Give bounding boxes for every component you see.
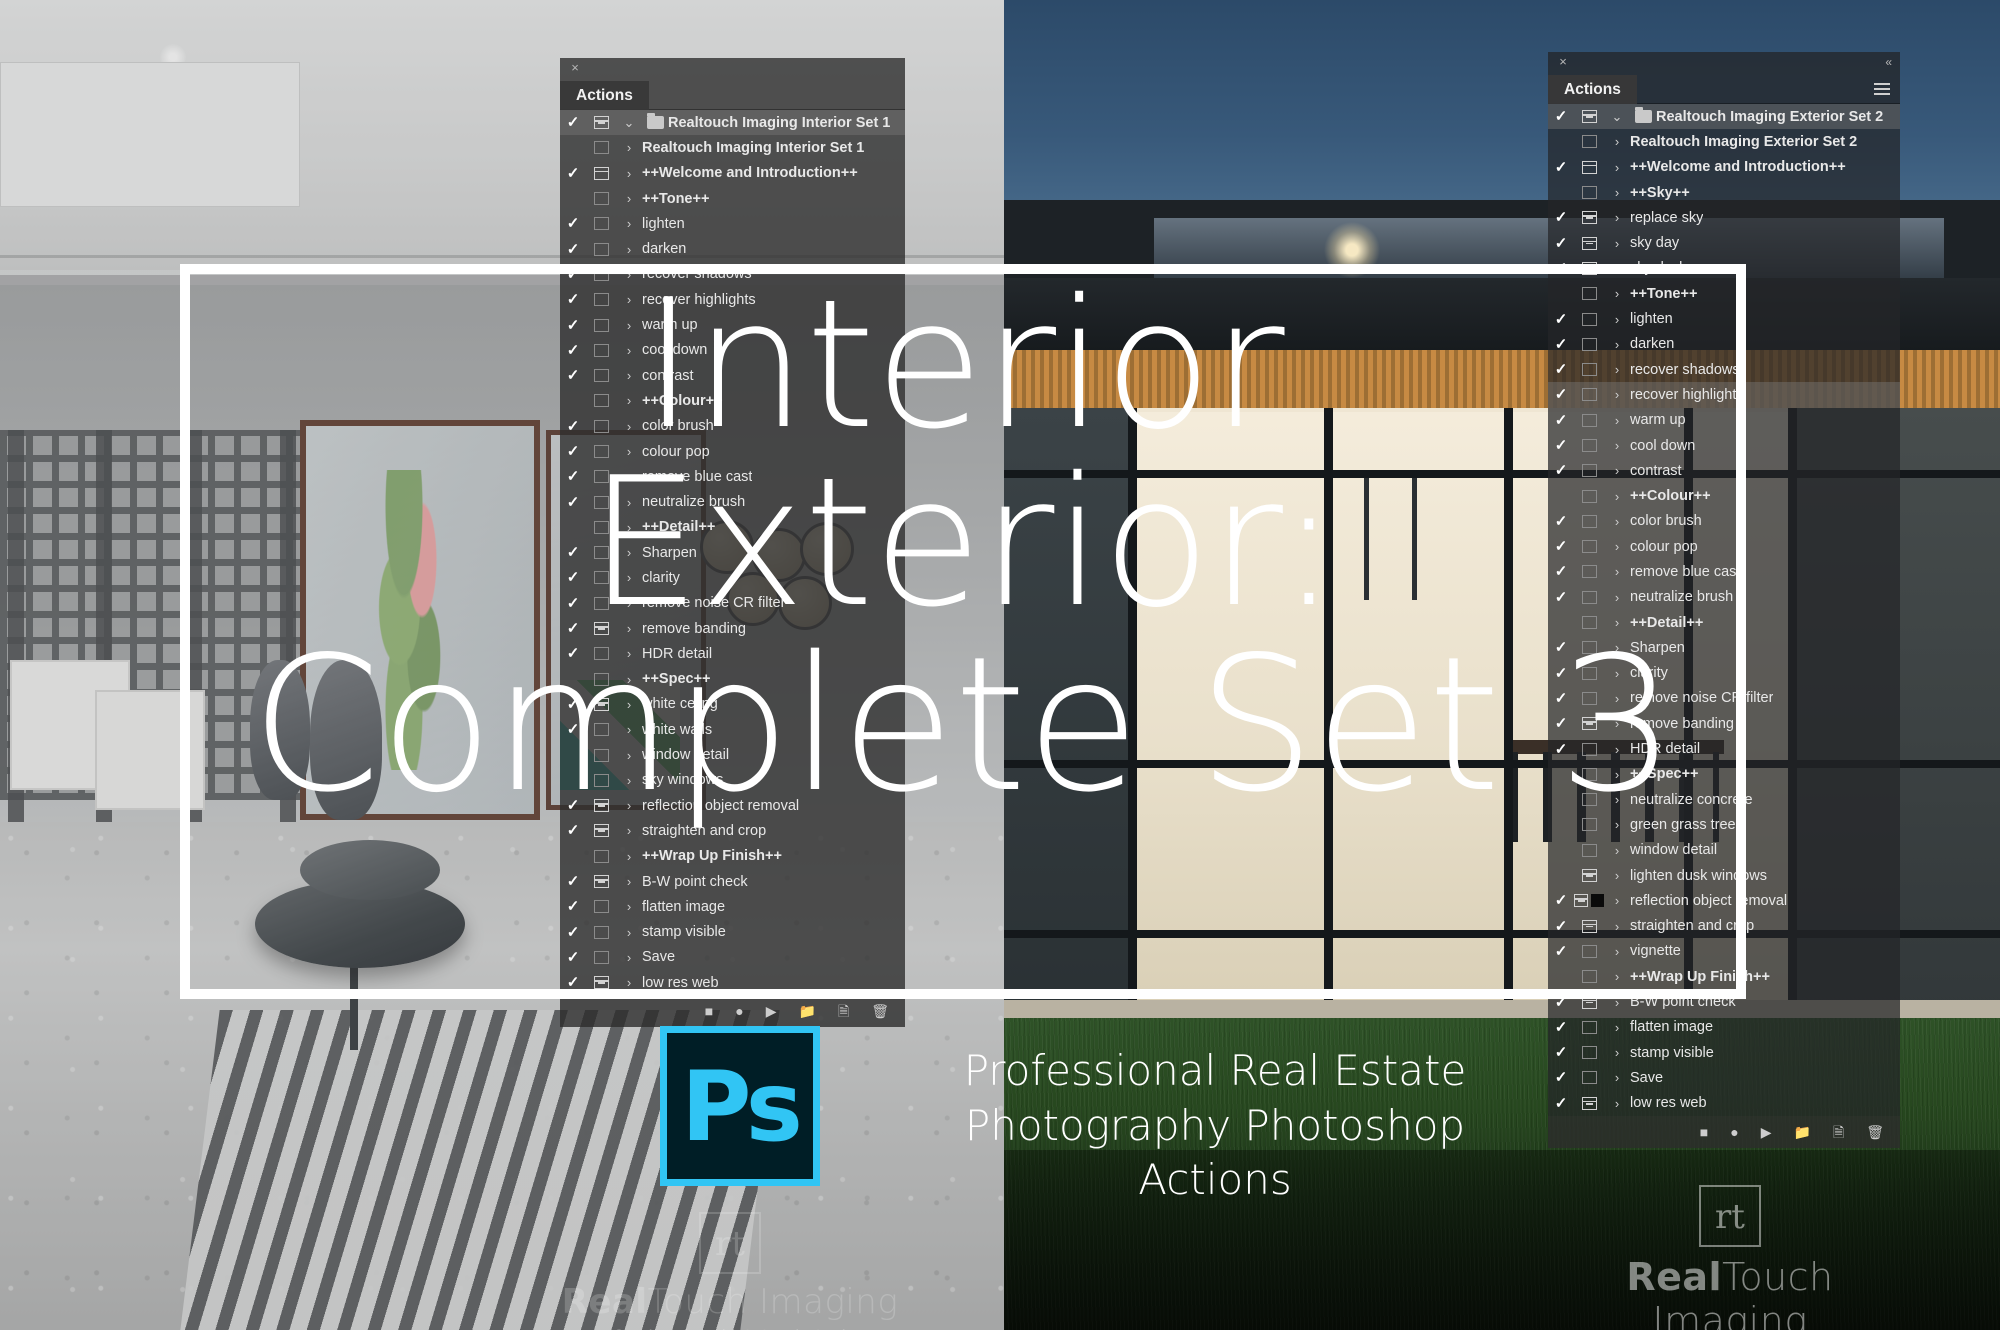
dialog-toggle-icon[interactable] bbox=[1574, 211, 1604, 224]
dialog-toggle-icon[interactable] bbox=[1574, 1046, 1604, 1059]
dialog-box-icon bbox=[1582, 237, 1597, 250]
checkmark-icon[interactable]: ✓ bbox=[1548, 109, 1574, 124]
dialog-toggle-icon[interactable] bbox=[586, 217, 616, 230]
checkmark-icon[interactable]: ✓ bbox=[560, 166, 586, 181]
dialog-toggle-icon[interactable] bbox=[1574, 1071, 1604, 1084]
action-row-label: lighten bbox=[642, 216, 685, 232]
panel-tabrow-right: Actions bbox=[1548, 75, 1900, 104]
twirl-arrow-icon[interactable]: › bbox=[1604, 1096, 1630, 1111]
action-row[interactable]: ✓⌄Realtouch Imaging Exterior Set 2 bbox=[1548, 104, 1900, 129]
folder-glyph bbox=[647, 116, 664, 129]
action-row-label: sky day bbox=[1630, 235, 1679, 251]
twirl-arrow-icon[interactable]: › bbox=[1604, 1020, 1630, 1035]
action-row-label: Realtouch Imaging Exterior Set 2 bbox=[1630, 134, 1857, 150]
delete-icon[interactable]: 🗑 bbox=[1866, 1125, 1884, 1139]
watermark-name-left: RealTouch Imaging bbox=[560, 1282, 900, 1322]
new-action-icon[interactable]: 🗎 bbox=[1833, 1125, 1844, 1139]
dialog-box-icon bbox=[1582, 135, 1597, 148]
watermark-subtitle-left: professional realestate photoshop action… bbox=[560, 1326, 900, 1330]
dialog-toggle-icon[interactable] bbox=[1574, 135, 1604, 148]
play-icon[interactable]: ▶ bbox=[1761, 1125, 1772, 1139]
checkmark-icon[interactable]: ✓ bbox=[560, 242, 586, 257]
dialog-toggle-icon[interactable] bbox=[586, 243, 616, 256]
close-icon[interactable]: × bbox=[1556, 55, 1570, 69]
action-row[interactable]: ✓›stamp visible bbox=[1548, 1040, 1900, 1065]
dialog-toggle-icon[interactable] bbox=[586, 167, 616, 180]
stop-icon[interactable]: ■ bbox=[1700, 1125, 1708, 1139]
tagline-line-2: Photography Photoshop Actions bbox=[935, 1099, 1495, 1208]
watermark-right: rt RealTouch Imaging professional reales… bbox=[1560, 1185, 1900, 1330]
dialog-box-icon bbox=[594, 217, 609, 230]
dialog-box-icon bbox=[1582, 186, 1597, 199]
action-row[interactable]: ›Realtouch Imaging Interior Set 1 bbox=[560, 135, 905, 160]
twirl-arrow-icon[interactable]: › bbox=[1604, 236, 1630, 251]
twirl-arrow-icon[interactable]: › bbox=[1604, 160, 1630, 175]
new-set-icon[interactable]: 📁 bbox=[799, 1004, 816, 1018]
checkmark-icon[interactable]: ✓ bbox=[1548, 1096, 1574, 1111]
tagline-line-1: Professional Real Estate bbox=[935, 1044, 1495, 1099]
action-row-label: stamp visible bbox=[1630, 1045, 1714, 1061]
page-title: Interior Exterior: Complete Set 3 bbox=[180, 276, 1746, 818]
action-row[interactable]: ✓›replace sky bbox=[1548, 205, 1900, 230]
checkmark-icon[interactable]: ✓ bbox=[1548, 1070, 1574, 1085]
action-row-label: ++Welcome and Introduction++ bbox=[642, 165, 858, 181]
folder-icon bbox=[1630, 110, 1656, 123]
panel-footer-left: ■ ● ▶ 📁 🗎 🗑 bbox=[560, 995, 905, 1027]
collapse-icon[interactable]: « bbox=[1885, 55, 1892, 69]
dialog-toggle-icon[interactable] bbox=[1574, 161, 1604, 174]
action-row-label: Realtouch Imaging Exterior Set 2 bbox=[1656, 109, 1883, 125]
twirl-arrow-icon[interactable]: › bbox=[1604, 210, 1630, 225]
action-row-label: ++Tone++ bbox=[642, 191, 709, 207]
panel-menu-icon[interactable] bbox=[1874, 83, 1890, 96]
action-row[interactable]: ›++Tone++ bbox=[560, 186, 905, 211]
tab-actions-left[interactable]: Actions bbox=[560, 81, 649, 110]
action-row[interactable]: ✓⌄Realtouch Imaging Interior Set 1 bbox=[560, 110, 905, 135]
dialog-toggle-icon[interactable] bbox=[1574, 1021, 1604, 1034]
panel-chrome-left: × Actions bbox=[560, 58, 905, 110]
close-icon[interactable]: × bbox=[568, 61, 582, 75]
action-row[interactable]: ✓›lighten bbox=[560, 211, 905, 236]
action-row[interactable]: ✓›Save bbox=[1548, 1065, 1900, 1090]
new-action-icon[interactable]: 🗎 bbox=[838, 1004, 849, 1018]
dialog-toggle-icon[interactable] bbox=[1574, 110, 1604, 123]
action-row-label: ++Welcome and Introduction++ bbox=[1630, 159, 1846, 175]
action-row[interactable]: ✓›sky day bbox=[1548, 230, 1900, 255]
panel-titlebar-left: × bbox=[560, 58, 905, 81]
title-line-3: Complete Set 3 bbox=[180, 632, 1746, 818]
dialog-box-icon bbox=[1582, 1046, 1597, 1059]
checkmark-icon[interactable]: ✓ bbox=[560, 216, 586, 231]
checkmark-icon[interactable]: ✓ bbox=[1548, 160, 1574, 175]
action-row-label: low res web bbox=[1630, 1095, 1707, 1111]
twirl-arrow-icon[interactable]: › bbox=[1604, 1070, 1630, 1085]
action-row[interactable]: ›Realtouch Imaging Exterior Set 2 bbox=[1548, 129, 1900, 154]
action-row-label: replace sky bbox=[1630, 210, 1703, 226]
action-row-label: Realtouch Imaging Interior Set 1 bbox=[668, 115, 890, 131]
photoshop-logo-icon: Ps bbox=[660, 1026, 820, 1186]
checkmark-icon[interactable]: ✓ bbox=[1548, 1045, 1574, 1060]
screenshot-canvas: × Actions ✓⌄Realtouch Imaging Interior S… bbox=[0, 0, 2000, 1330]
play-icon[interactable]: ▶ bbox=[766, 1004, 777, 1018]
twirl-arrow-icon[interactable]: › bbox=[616, 242, 642, 257]
action-row-label: darken bbox=[642, 241, 686, 257]
panel-tabrow-left: Actions bbox=[560, 81, 905, 110]
action-row[interactable]: ✓›darken bbox=[560, 236, 905, 261]
dialog-box-icon bbox=[1582, 1071, 1597, 1084]
twirl-arrow-icon[interactable]: ⌄ bbox=[1604, 109, 1630, 125]
folder-glyph bbox=[1635, 110, 1652, 123]
rt-monogram-icon: rt bbox=[1699, 1185, 1761, 1247]
twirl-arrow-icon[interactable]: › bbox=[1604, 1045, 1630, 1060]
photoshop-logo-label: Ps bbox=[667, 1033, 813, 1179]
dialog-toggle-icon[interactable] bbox=[586, 141, 616, 154]
watermark-name-strong: Real bbox=[1626, 1255, 1722, 1299]
checkmark-icon[interactable]: ✓ bbox=[560, 115, 586, 130]
checkmark-icon[interactable]: ✓ bbox=[1548, 1020, 1574, 1035]
twirl-arrow-icon[interactable]: › bbox=[1604, 134, 1630, 149]
delete-icon[interactable]: 🗑 bbox=[871, 1004, 889, 1018]
dialog-box-icon bbox=[594, 167, 609, 180]
folder-icon bbox=[642, 116, 668, 129]
dialog-box-icon bbox=[1582, 211, 1597, 224]
twirl-arrow-icon[interactable]: ⌄ bbox=[616, 115, 642, 131]
action-row-label: ++Sky++ bbox=[1630, 185, 1690, 201]
action-row[interactable]: ✓›++Welcome and Introduction++ bbox=[560, 161, 905, 186]
action-row[interactable]: ✓›++Welcome and Introduction++ bbox=[1548, 155, 1900, 180]
twirl-arrow-icon[interactable]: › bbox=[616, 191, 642, 206]
action-row-label: Realtouch Imaging Interior Set 1 bbox=[642, 140, 864, 156]
dialog-box-icon bbox=[594, 243, 609, 256]
dialog-box-icon bbox=[594, 116, 609, 129]
twirl-arrow-icon[interactable]: › bbox=[1604, 185, 1630, 200]
new-set-icon[interactable]: 📁 bbox=[1794, 1125, 1811, 1139]
dialog-box-icon bbox=[594, 141, 609, 154]
panel-footer-right: ■ ● ▶ 📁 🗎 🗑 bbox=[1548, 1116, 1900, 1148]
tagline: Professional Real Estate Photography Pho… bbox=[935, 1044, 1495, 1208]
twirl-arrow-icon[interactable]: › bbox=[616, 140, 642, 155]
record-icon[interactable]: ● bbox=[1730, 1125, 1738, 1139]
checkmark-icon[interactable]: ✓ bbox=[1548, 236, 1574, 251]
dialog-box-icon bbox=[1582, 1021, 1597, 1034]
dialog-toggle-icon[interactable] bbox=[1574, 237, 1604, 250]
action-row[interactable]: ✓›low res web bbox=[1548, 1091, 1900, 1116]
watermark-left: rt RealTouch Imaging professional reales… bbox=[560, 1212, 900, 1330]
dialog-toggle-icon[interactable] bbox=[586, 116, 616, 129]
dialog-toggle-icon[interactable] bbox=[1574, 1097, 1604, 1110]
action-row-label: flatten image bbox=[1630, 1019, 1713, 1035]
twirl-arrow-icon[interactable]: › bbox=[616, 216, 642, 231]
action-row[interactable]: ✓›flatten image bbox=[1548, 1015, 1900, 1040]
dialog-box-icon bbox=[1582, 161, 1597, 174]
dialog-box-icon bbox=[1582, 1097, 1597, 1110]
record-icon[interactable]: ● bbox=[735, 1004, 743, 1018]
checkmark-icon[interactable]: ✓ bbox=[1548, 210, 1574, 225]
watermark-name-light: Touch Imaging bbox=[648, 1282, 899, 1322]
panel-chrome-right: × « Actions bbox=[1548, 52, 1900, 104]
watermark-name-right: RealTouch Imaging bbox=[1560, 1255, 1900, 1330]
title-line-1: Interior bbox=[180, 276, 1746, 454]
dialog-toggle-icon[interactable] bbox=[586, 192, 616, 205]
dialog-box-icon bbox=[1582, 110, 1597, 123]
watermark-name-strong: Real bbox=[562, 1282, 648, 1322]
tab-actions-right[interactable]: Actions bbox=[1548, 75, 1637, 104]
action-row[interactable]: ›++Sky++ bbox=[1548, 180, 1900, 205]
stop-icon[interactable]: ■ bbox=[705, 1004, 713, 1018]
rt-monogram-icon: rt bbox=[699, 1212, 761, 1274]
twirl-arrow-icon[interactable]: › bbox=[616, 166, 642, 181]
dialog-box-icon bbox=[594, 192, 609, 205]
panel-titlebar-right: × « bbox=[1548, 52, 1900, 75]
dialog-toggle-icon[interactable] bbox=[1574, 186, 1604, 199]
title-line-2: Exterior: bbox=[180, 454, 1746, 632]
action-row-label: Save bbox=[1630, 1070, 1663, 1086]
